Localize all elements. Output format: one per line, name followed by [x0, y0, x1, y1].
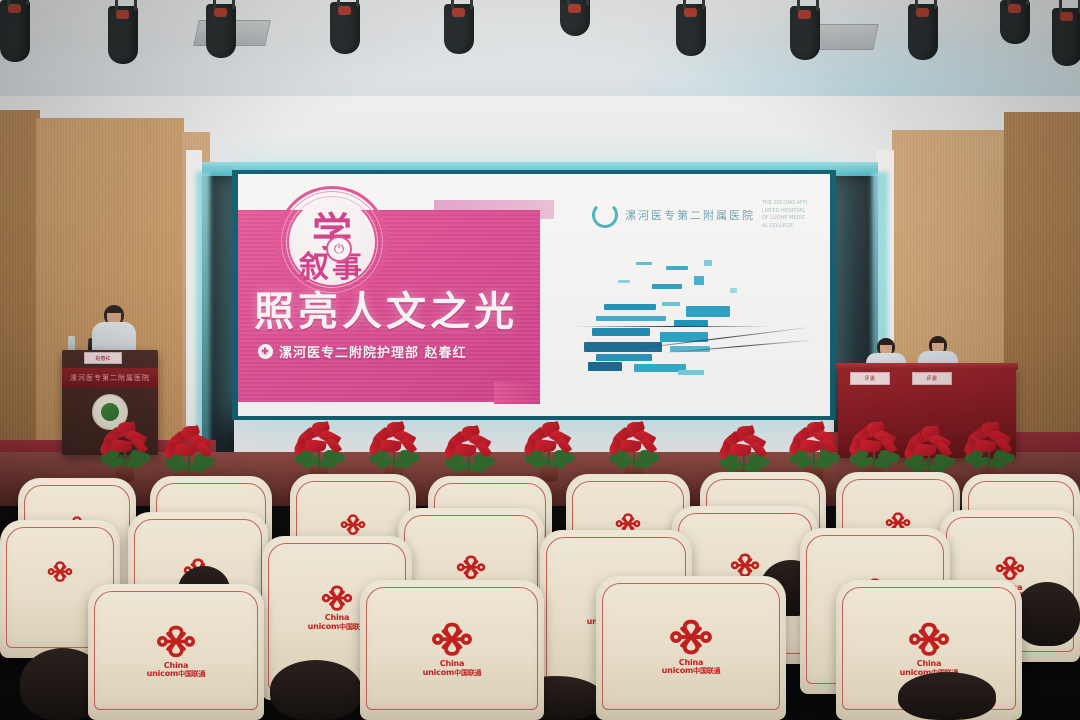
podium-name-card: 赵春红	[84, 352, 122, 364]
backdrop-glow-left	[196, 172, 210, 462]
unicom-knot-icon	[340, 514, 366, 535]
brand-cn: 中国联通	[693, 667, 720, 675]
unicom-knot-icon	[156, 625, 196, 658]
slide-pink-corner	[494, 382, 540, 404]
unicom-branding: China unicom中国联通	[836, 622, 1022, 677]
seat-brand-text: China unicom中国联通	[423, 660, 482, 677]
stage-light-icon	[108, 6, 138, 64]
brand-cn: 中国联通	[178, 670, 205, 678]
slide-headline: 照亮人文之光	[254, 292, 518, 332]
power-icon: ⏻	[326, 236, 352, 262]
unicom-branding: China unicom中国联通	[360, 622, 544, 677]
unicom-knot-icon	[431, 622, 473, 656]
poinsettia-plant	[96, 420, 154, 482]
unicom-branding	[0, 561, 120, 582]
podium-banner: 漯河医专第二附属医院	[62, 368, 158, 388]
attendee-head	[270, 660, 362, 720]
poinsettia-plant	[605, 420, 663, 482]
stage-light-icon	[790, 6, 820, 60]
unicom-knot-icon	[995, 556, 1025, 581]
unicom-knot-icon	[321, 585, 353, 611]
brand-en-line2: unicom	[423, 668, 455, 677]
poinsettia-plant	[290, 420, 348, 482]
slide-surface: 学 叙事 ⏻ 照亮人文之光 ✚ 漯河医专二附院护理部 赵春红 漯河医专第二附属医…	[238, 174, 830, 416]
wall-panel-left-outer	[0, 110, 40, 460]
audience-seat: China unicom中国联通	[596, 576, 786, 720]
poinsettia-plant	[520, 420, 578, 482]
audience-seat: China unicom中国联通	[360, 580, 544, 720]
stage-light-icon	[206, 4, 236, 58]
seat-brand-text: China unicom中国联通	[147, 662, 206, 679]
stage-light-icon	[0, 0, 30, 62]
unicom-knot-icon	[47, 561, 73, 582]
unicom-knot-icon	[456, 555, 486, 580]
unicom-branding: China unicom中国联通	[596, 619, 786, 676]
unicom-knot-icon	[908, 622, 950, 656]
slide-byline: ✚ 漯河医专二附院护理部 赵春红	[258, 342, 467, 361]
brand-en-line2: unicom	[662, 666, 694, 675]
stage-light-icon	[1000, 0, 1030, 44]
hospital-name-en: THE SECOND AFFILIATED HOSPITAL OF LUOHE …	[762, 200, 808, 230]
unicom-branding: China unicom中国联通	[88, 625, 264, 679]
stage-light-icon	[560, 0, 590, 36]
attendee-head	[1014, 582, 1080, 646]
unicom-knot-icon	[669, 619, 713, 655]
stage-light-icon	[676, 4, 706, 56]
poinsettia-plant	[365, 420, 423, 482]
slide-byline-text: 漯河医专二附院护理部 赵春红	[279, 342, 467, 361]
ring-mark-icon	[592, 202, 618, 228]
abstract-graphic	[574, 258, 812, 398]
stage-light-icon	[1052, 8, 1080, 66]
auditorium-scene: 学 叙事 ⏻ 照亮人文之光 ✚ 漯河医专二附院护理部 赵春红 漯河医专第二附属医…	[0, 0, 1080, 720]
hospital-logo: 漯河医专第二附属医院 THE SECOND AFFILIATED HOSPITA…	[592, 200, 808, 230]
brand-en-line2: unicom	[308, 622, 340, 631]
hospital-name: 漯河医专第二附属医院	[625, 209, 755, 222]
judge-name-card: 评委	[912, 372, 952, 385]
seat-brand-text: China unicom中国联通	[662, 659, 721, 676]
projection-screen: 学 叙事 ⏻ 照亮人文之光 ✚ 漯河医专二附院护理部 赵春红 漯河医专第二附属医…	[232, 170, 836, 420]
audience-seat: China unicom中国联通	[88, 584, 264, 720]
seat-brand-text: China unicom中国联通	[308, 614, 367, 631]
judge-name-card: 评委	[850, 372, 890, 385]
poinsettia-plant	[960, 420, 1018, 482]
brand-cn: 中国联通	[454, 669, 481, 677]
stage-light-icon	[330, 2, 360, 54]
unicom-knot-icon	[730, 553, 760, 578]
attendee-head	[898, 672, 996, 720]
stage-light-icon	[444, 4, 474, 54]
cross-badge-icon: ✚	[258, 344, 273, 359]
brand-en-line2: unicom	[147, 669, 179, 678]
presenter	[92, 305, 136, 353]
stage-light-icon	[908, 4, 938, 60]
